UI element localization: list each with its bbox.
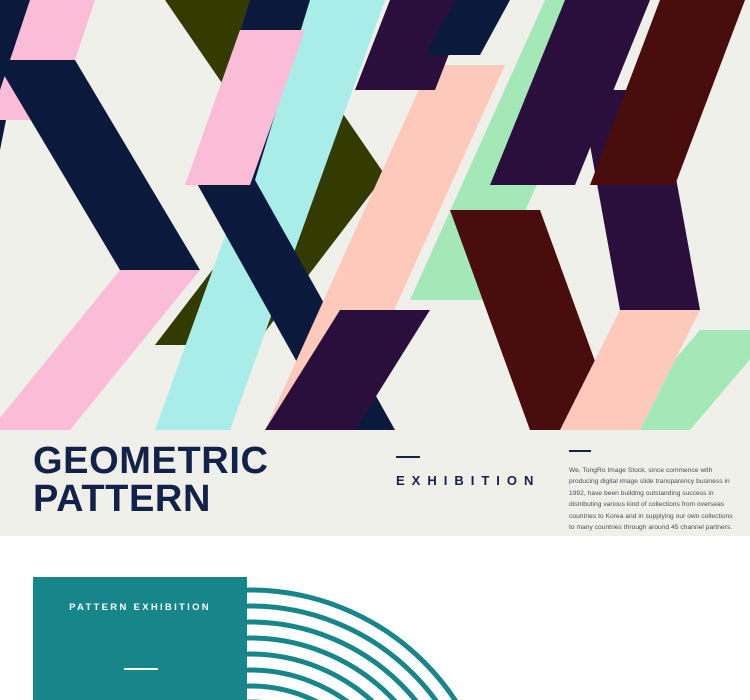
lower-section: PATTERN EXHIBITION — [0, 536, 750, 700]
about-block: We, TongRo Image Stock, since commence w… — [569, 450, 739, 533]
hero-section: GEOMETRIC PATTERN EXHIBITION We, TongRo … — [0, 0, 750, 536]
title-block: GEOMETRIC PATTERN — [33, 442, 363, 518]
page-title: GEOMETRIC PATTERN — [33, 442, 363, 518]
about-rule-divider — [569, 450, 591, 452]
card-title: PATTERN EXHIBITION — [33, 603, 247, 613]
pattern-exhibition-card[interactable]: PATTERN EXHIBITION — [33, 577, 247, 700]
pattern-svg — [0, 0, 750, 430]
poster-canvas: GEOMETRIC PATTERN EXHIBITION We, TongRo … — [0, 0, 750, 700]
card-rule-divider — [124, 668, 158, 670]
exhibition-rule-divider — [396, 456, 420, 458]
about-paragraph: We, TongRo Image Stock, since commence w… — [569, 465, 739, 533]
exhibition-label: EXHIBITION — [396, 474, 566, 487]
exhibition-block: EXHIBITION — [396, 456, 566, 487]
hero-text-row: GEOMETRIC PATTERN EXHIBITION We, TongRo … — [0, 430, 750, 536]
geometric-pattern-artwork — [0, 0, 750, 430]
